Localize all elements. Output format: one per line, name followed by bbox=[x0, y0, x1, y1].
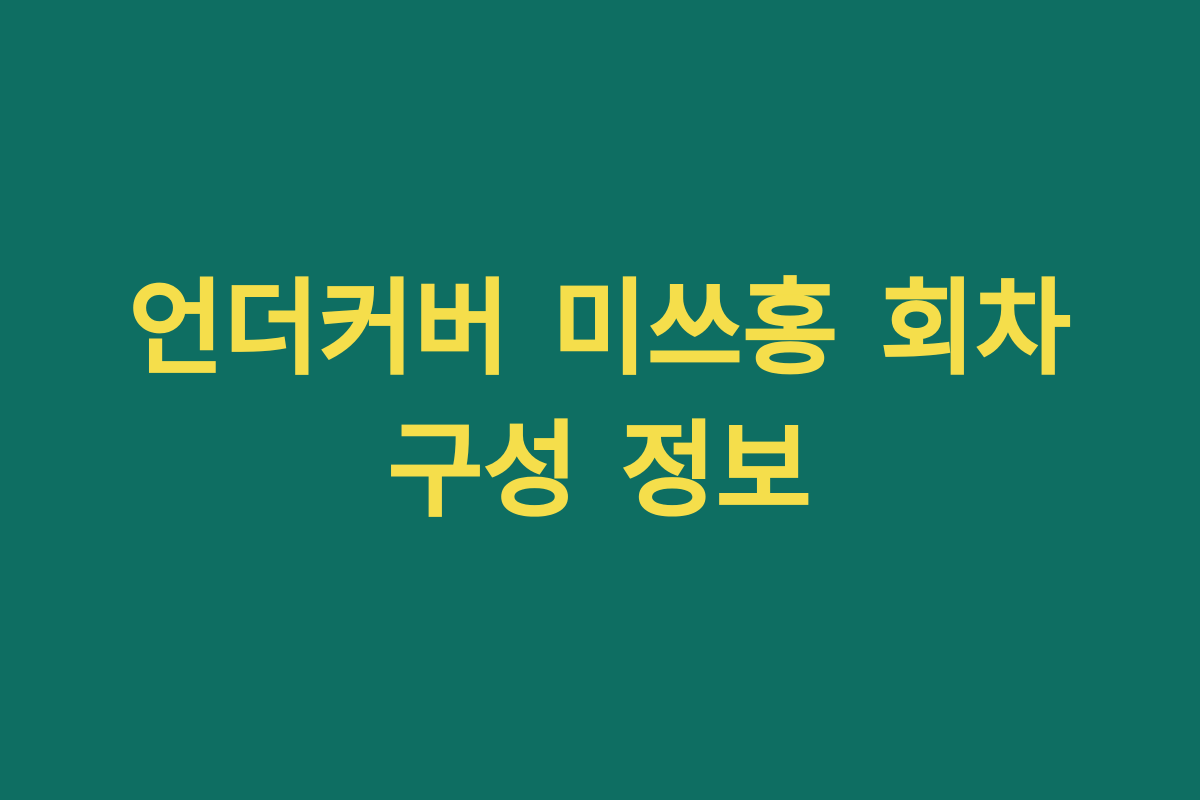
page-title: 언더커버 미쓰홍 회차 구성 정보 bbox=[95, 258, 1105, 542]
title-card: 언더커버 미쓰홍 회차 구성 정보 bbox=[0, 0, 1200, 800]
title-text-block: 언더커버 미쓰홍 회차 구성 정보 bbox=[85, 258, 1115, 542]
